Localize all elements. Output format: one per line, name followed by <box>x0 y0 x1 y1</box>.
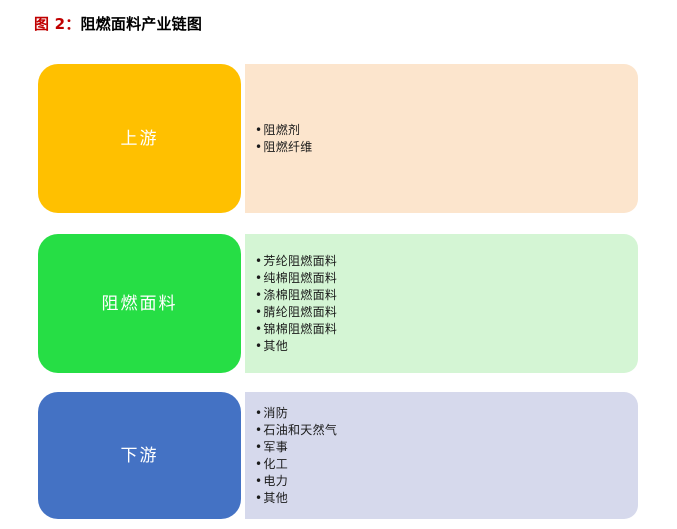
list-item-label: 涤棉阻燃面料 <box>263 288 337 302</box>
stage-label-upstream: 上游 <box>121 127 159 151</box>
list-item-label: 其他 <box>263 339 288 353</box>
list-item-label: 腈纶阻燃面料 <box>263 305 337 319</box>
bullet-icon: • <box>255 287 262 304</box>
list-item: •涤棉阻燃面料 <box>255 287 638 304</box>
bullet-icon: • <box>255 439 262 456</box>
list-item-label: 电力 <box>263 474 288 488</box>
bullet-icon: • <box>255 304 262 321</box>
list-item: •消防 <box>255 405 638 422</box>
list-item: •阻燃纤维 <box>255 139 638 156</box>
stage-box-downstream[interactable]: 下游 <box>38 392 241 519</box>
list-item-label: 阻燃纤维 <box>263 140 312 154</box>
list-item-label: 纯棉阻燃面料 <box>263 271 337 285</box>
list-item: •石油和天然气 <box>255 422 638 439</box>
list-item-label: 芳纶阻燃面料 <box>263 254 337 268</box>
list-item-label: 消防 <box>263 406 288 420</box>
bullet-icon: • <box>255 139 262 156</box>
stage-label-downstream: 下游 <box>121 444 159 468</box>
bullet-icon: • <box>255 405 262 422</box>
bullet-icon: • <box>255 270 262 287</box>
list-item: •腈纶阻燃面料 <box>255 304 638 321</box>
list-item-label: 锦棉阻燃面料 <box>263 322 337 336</box>
stage-label-midstream: 阻燃面料 <box>102 292 178 316</box>
industry-chain-diagram: 上游 •阻燃剂 •阻燃纤维 阻燃面料 •芳纶阻燃面料 •纯棉阻燃面料 •涤棉阻燃… <box>0 0 677 529</box>
item-list-upstream: •阻燃剂 •阻燃纤维 <box>245 64 638 213</box>
item-list-midstream: •芳纶阻燃面料 •纯棉阻燃面料 •涤棉阻燃面料 •腈纶阻燃面料 •锦棉阻燃面料 … <box>245 234 638 373</box>
stage-box-midstream[interactable]: 阻燃面料 <box>38 234 241 373</box>
bullet-icon: • <box>255 473 262 490</box>
list-item: •化工 <box>255 456 638 473</box>
list-item: •电力 <box>255 473 638 490</box>
bullet-icon: • <box>255 321 262 338</box>
list-item-label: 石油和天然气 <box>263 423 337 437</box>
chain-row-upstream: 上游 •阻燃剂 •阻燃纤维 <box>38 64 638 213</box>
chain-row-downstream: 下游 •消防 •石油和天然气 •军事 •化工 •电力 •其他 <box>38 392 638 519</box>
list-item: •阻燃剂 <box>255 122 638 139</box>
stage-box-upstream[interactable]: 上游 <box>38 64 241 213</box>
list-item: •军事 <box>255 439 638 456</box>
list-item-label: 军事 <box>263 440 288 454</box>
bullet-icon: • <box>255 456 262 473</box>
bullet-icon: • <box>255 422 262 439</box>
list-item: •纯棉阻燃面料 <box>255 270 638 287</box>
list-item: •芳纶阻燃面料 <box>255 253 638 270</box>
bullet-icon: • <box>255 253 262 270</box>
list-item-label: 化工 <box>263 457 288 471</box>
list-item: •其他 <box>255 338 638 355</box>
chain-row-midstream: 阻燃面料 •芳纶阻燃面料 •纯棉阻燃面料 •涤棉阻燃面料 •腈纶阻燃面料 •锦棉… <box>38 234 638 373</box>
list-item-label: 阻燃剂 <box>263 123 300 137</box>
list-item: •其他 <box>255 490 638 507</box>
item-list-downstream: •消防 •石油和天然气 •军事 •化工 •电力 •其他 <box>245 392 638 519</box>
bullet-icon: • <box>255 338 262 355</box>
bullet-icon: • <box>255 122 262 139</box>
bullet-icon: • <box>255 490 262 507</box>
list-item: •锦棉阻燃面料 <box>255 321 638 338</box>
list-item-label: 其他 <box>263 491 288 505</box>
